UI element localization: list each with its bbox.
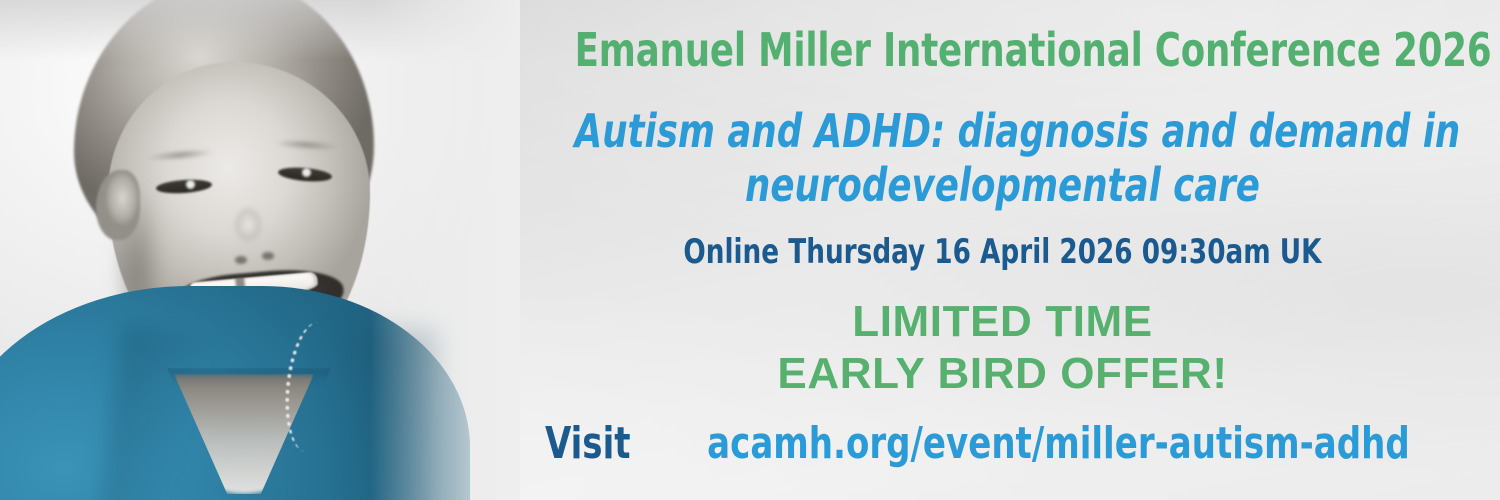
event-datetime: Online Thursday 16 April 2026 09:30am UK xyxy=(575,232,1431,272)
child-photograph xyxy=(0,0,520,500)
conference-subtitle: Autism and ADHD: diagnosis and demand in… xyxy=(505,104,1500,212)
nostril-right xyxy=(262,252,274,260)
conference-subtitle-line-1: Autism and ADHD: diagnosis and demand in xyxy=(575,104,1431,158)
conference-subtitle-line-2: neurodevelopmental care xyxy=(575,158,1431,212)
event-url-link[interactable]: acamh.org/event/miller-autism-adhd xyxy=(707,418,1410,470)
visit-prefix-label: Visit xyxy=(545,418,631,470)
nostril-left xyxy=(235,256,247,264)
eye-highlight-right xyxy=(302,168,311,177)
conference-title: Emanuel Miller International Conference … xyxy=(575,25,1431,75)
conference-promo-banner: Emanuel Miller International Conference … xyxy=(0,0,1500,500)
offer-line-1: LIMITED TIME xyxy=(505,296,1500,348)
eye-highlight-left xyxy=(186,180,195,189)
visit-link-row[interactable]: Visit acamh.org/event/miller-autism-adhd xyxy=(505,418,1500,470)
photo-right-fade xyxy=(370,0,520,500)
early-bird-offer-callout: LIMITED TIME EARLY BIRD OFFER! xyxy=(505,296,1500,400)
ear-shape xyxy=(96,170,140,240)
banner-text-column: Emanuel Miller International Conference … xyxy=(505,0,1500,500)
offer-line-2: EARLY BIRD OFFER! xyxy=(505,348,1500,400)
